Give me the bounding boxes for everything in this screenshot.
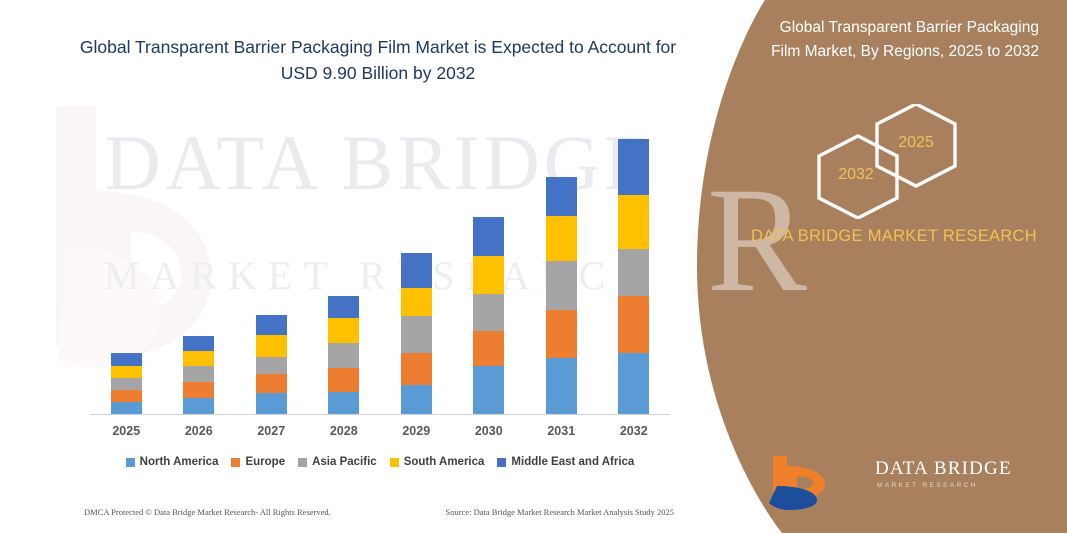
legend-item[interactable]: South America <box>390 456 485 468</box>
bar-segment <box>183 366 214 382</box>
bar-segment <box>473 294 504 331</box>
bar-stack <box>111 353 142 415</box>
bar-stack <box>401 253 432 415</box>
bar-segment <box>328 343 359 368</box>
x-axis-label: 2031 <box>526 424 596 438</box>
bar-segment <box>256 374 287 393</box>
x-axis-label: 2030 <box>454 424 524 438</box>
brand-name: DATA BRIDGE MARKET RESEARCH <box>749 224 1039 250</box>
footer: DMCA Protected © Data Bridge Market Rese… <box>84 507 674 517</box>
bar-segment <box>618 139 649 195</box>
chart-plot-area <box>90 110 670 415</box>
panel-title: Global Transparent Barrier Packaging Fil… <box>749 16 1039 63</box>
legend-item[interactable]: Middle East and Africa <box>497 456 634 468</box>
bar-segment <box>183 351 214 366</box>
legend-label: Asia Pacific <box>312 456 377 468</box>
hexagon-group: 2032 2025 <box>811 104 1011 219</box>
hex-label-back: 2032 <box>821 166 891 184</box>
bar-segment <box>546 216 577 261</box>
hex-label-front: 2025 <box>881 134 951 152</box>
bar-segment <box>183 382 214 398</box>
x-axis-labels: 20252026202720282029203020312032 <box>90 424 670 446</box>
bar-segment <box>546 310 577 358</box>
legend-item[interactable]: Europe <box>231 456 285 468</box>
bar-segment <box>256 393 287 415</box>
legend-label: Middle East and Africa <box>511 456 634 468</box>
bar-segment <box>546 177 577 216</box>
bar-segment <box>473 256 504 294</box>
x-axis-label: 2029 <box>381 424 451 438</box>
logo-wordmark: DATA BRIDGE <box>875 458 1012 480</box>
footer-source: Source: Data Bridge Market Research Mark… <box>445 507 674 517</box>
bar-segment <box>546 358 577 415</box>
bar-segment <box>111 366 142 378</box>
bar-segment <box>473 366 504 415</box>
bar-segment <box>546 261 577 310</box>
x-axis-line <box>90 414 670 415</box>
chart-panel: DATA BRIDGE MARKET RESEARCH Global Trans… <box>0 0 760 533</box>
bar-segment <box>111 353 142 366</box>
x-axis-label: 2028 <box>309 424 379 438</box>
legend-swatch <box>126 458 135 467</box>
bar-segment <box>401 253 432 288</box>
bar-segment <box>328 368 359 392</box>
legend-label: North America <box>140 456 219 468</box>
logo-tagline: MARKET RESEARCH <box>877 482 978 489</box>
infographic-root: DATA BRIDGE MARKET RESEARCH Global Trans… <box>0 0 1067 533</box>
footer-copyright: DMCA Protected © Data Bridge Market Rese… <box>84 507 331 517</box>
bar-stack <box>256 315 287 415</box>
page-title: Global Transparent Barrier Packaging Fil… <box>60 34 696 87</box>
bar-segment <box>256 315 287 335</box>
bar-stack <box>618 139 649 415</box>
bar-stack <box>328 296 359 415</box>
bar-segment <box>473 331 504 366</box>
x-axis-label: 2026 <box>164 424 234 438</box>
branding-panel: R Global Transparent Barrier Packaging F… <box>687 0 1067 533</box>
bar-segment <box>473 217 504 256</box>
bar-segment <box>183 336 214 351</box>
x-axis-label: 2025 <box>91 424 161 438</box>
legend-swatch <box>390 458 399 467</box>
bar-segment <box>618 249 649 296</box>
bar-segment <box>618 353 649 415</box>
data-bridge-logo-icon <box>759 452 869 510</box>
bar-segment <box>401 353 432 385</box>
legend-item[interactable]: Asia Pacific <box>298 456 377 468</box>
bar-stack <box>183 336 214 415</box>
bar-segment <box>328 318 359 343</box>
bar-segment <box>183 398 214 415</box>
bar-segment <box>328 392 359 415</box>
chart-legend: North AmericaEuropeAsia PacificSouth Ame… <box>90 456 670 468</box>
branding-content: Global Transparent Barrier Packaging Fil… <box>749 0 1067 533</box>
hexagon-shapes-icon <box>811 104 1011 219</box>
bar-segment <box>256 335 287 357</box>
bar-stack <box>473 217 504 415</box>
bar-segment <box>401 288 432 316</box>
bar-stack <box>546 177 577 415</box>
legend-item[interactable]: North America <box>126 456 219 468</box>
bar-segment <box>618 296 649 353</box>
legend-label: South America <box>404 456 485 468</box>
legend-swatch <box>298 458 307 467</box>
bar-segment <box>111 378 142 390</box>
bar-segment <box>111 390 142 402</box>
bar-segment <box>328 296 359 318</box>
legend-label: Europe <box>245 456 285 468</box>
company-logo: DATA BRIDGE MARKET RESEARCH <box>759 452 1059 512</box>
x-axis-label: 2032 <box>599 424 669 438</box>
bar-segment <box>256 357 287 374</box>
legend-swatch <box>231 458 240 467</box>
bar-segment <box>401 316 432 353</box>
bar-segment <box>401 385 432 415</box>
legend-swatch <box>497 458 506 467</box>
x-axis-label: 2027 <box>236 424 306 438</box>
bar-segment <box>618 195 649 249</box>
